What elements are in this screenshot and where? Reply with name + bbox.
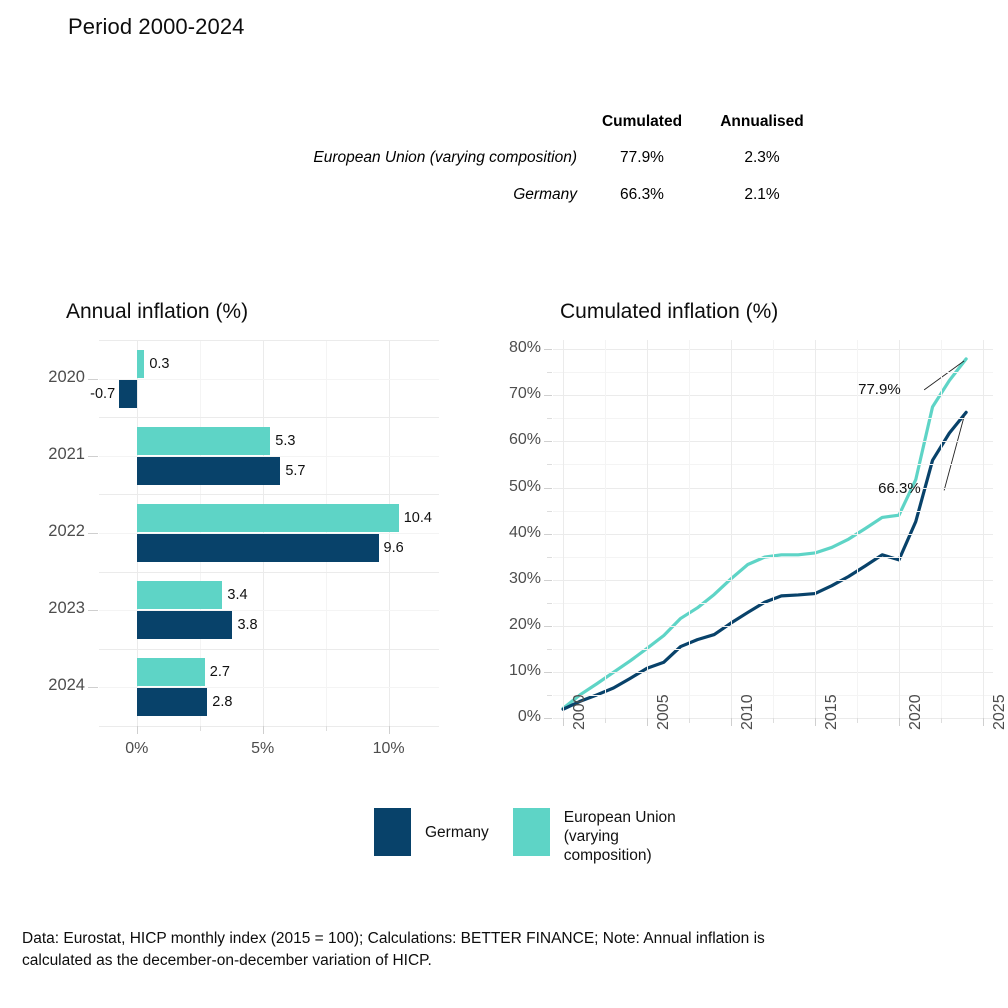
bar-value-label: 3.8 <box>237 611 257 639</box>
line-x-axis-tick-mark <box>647 718 648 726</box>
line-y-axis-tick-mark-minor <box>547 372 552 373</box>
bar-axis-tick-mark <box>88 379 98 380</box>
bar-germany-2023 <box>137 611 233 639</box>
line-x-axis-tick-2020: 2020 <box>907 694 925 730</box>
line-x-axis-tick-mark <box>983 718 984 726</box>
annotation-label-eu: 77.9% <box>858 381 901 398</box>
bar-axis-tick-mark <box>88 610 98 611</box>
line-y-axis-tick-mark-minor <box>547 418 552 419</box>
bar-x-axis-tick-10pct: 10% <box>359 740 419 758</box>
line-y-axis-tick-mark <box>544 626 552 627</box>
bar-eu-2022 <box>137 504 399 532</box>
line-x-axis-tick-mark-minor <box>689 718 690 723</box>
legend-swatch-european-union <box>513 808 550 856</box>
line-y-axis-tick-mark <box>544 580 552 581</box>
line-x-axis-tick-2015: 2015 <box>823 694 841 730</box>
bar-eu-2024 <box>137 658 205 686</box>
bar-gridline-horizontal <box>99 494 439 495</box>
line-y-axis-tick-mark-minor <box>547 649 552 650</box>
bar-eu-2021 <box>137 427 270 455</box>
line-gridline-minor-v <box>773 340 774 718</box>
bar-value-label: 10.4 <box>404 504 432 532</box>
bar-x-axis-tick-mark <box>389 726 390 734</box>
line-y-axis-tick-20pct: 20% <box>491 616 541 634</box>
annotation-leader-eu <box>924 361 964 390</box>
bar-axis-tick-2024: 2024 <box>5 676 85 695</box>
line-chart-title: Cumulated inflation (%) <box>560 300 778 324</box>
line-y-axis-tick-40pct: 40% <box>491 524 541 542</box>
line-gridline-major-v <box>731 340 732 718</box>
line-y-axis-tick-mark-minor <box>547 464 552 465</box>
bar-axis-tick-mark <box>88 533 98 534</box>
bar-value-label: 5.3 <box>275 427 295 455</box>
line-y-axis-tick-70pct: 70% <box>491 385 541 403</box>
bar-axis-tick-2023: 2023 <box>5 599 85 618</box>
table-cell-annualised: 2.1% <box>707 176 817 213</box>
bar-value-label: 2.7 <box>210 658 230 686</box>
bar-germany-2020 <box>119 380 137 408</box>
line-y-axis-tick-mark-minor <box>547 695 552 696</box>
bar-x-axis-tick-0pct: 0% <box>107 740 167 758</box>
bar-x-axis-tick-mark <box>263 726 264 734</box>
table-row: Germany 66.3% 2.1% <box>232 176 817 213</box>
table-header-annualised: Annualised <box>707 105 817 139</box>
line-gridline-major-v <box>815 340 816 718</box>
bar-gridline-horizontal-minor <box>99 379 439 380</box>
legend-label-european-union: European Union (varying composition) <box>564 808 699 865</box>
line-x-axis-tick-mark <box>815 718 816 726</box>
legend-item-european-union[interactable]: European Union (varying composition) <box>513 808 699 865</box>
bar-x-axis-tick-mark-minor <box>326 726 327 731</box>
bar-gridline-horizontal <box>99 572 439 573</box>
line-y-axis-tick-50pct: 50% <box>491 478 541 496</box>
legend-item-germany[interactable]: Germany <box>374 808 489 856</box>
line-y-axis-tick-mark <box>544 441 552 442</box>
bar-chart-title: Annual inflation (%) <box>66 300 248 324</box>
line-x-axis-tick-mark <box>731 718 732 726</box>
line-x-axis-tick-2010: 2010 <box>739 694 757 730</box>
chart-caption: Data: Eurostat, HICP monthly index (2015… <box>22 928 822 972</box>
line-x-axis-tick-mark-minor <box>941 718 942 723</box>
bar-chart-plot-area: 0.3-0.75.35.710.49.63.43.82.72.8 <box>99 340 439 726</box>
table-cell-entity: European Union (varying composition) <box>232 139 577 176</box>
line-y-axis-tick-mark-minor <box>547 557 552 558</box>
bar-germany-2022 <box>137 534 379 562</box>
table-cell-cumulated: 77.9% <box>577 139 707 176</box>
bar-axis-tick-2022: 2022 <box>5 522 85 541</box>
summary-table: Cumulated Annualised European Union (var… <box>232 105 817 213</box>
bar-eu-2020 <box>137 350 145 378</box>
bar-axis-tick-mark <box>88 456 98 457</box>
bar-gridline-horizontal <box>99 649 439 650</box>
legend-label-germany: Germany <box>425 823 489 842</box>
line-x-axis-tick-2000: 2000 <box>571 694 589 730</box>
bar-germany-2021 <box>137 457 281 485</box>
table-header-cumulated: Cumulated <box>577 105 707 139</box>
line-gridline-minor-v <box>689 340 690 718</box>
line-y-axis-tick-mark-minor <box>547 511 552 512</box>
line-y-axis-tick-mark <box>544 534 552 535</box>
bar-gridline-horizontal <box>99 417 439 418</box>
line-y-axis-tick-60pct: 60% <box>491 431 541 449</box>
line-y-axis-tick-mark <box>544 672 552 673</box>
page-title: Period 2000-2024 <box>68 14 245 40</box>
line-gridline-major-v <box>647 340 648 718</box>
line-y-axis-tick-80pct: 80% <box>491 339 541 357</box>
line-y-axis-tick-mark-minor <box>547 603 552 604</box>
line-chart-plot-area: 77.9%66.3% <box>553 340 993 718</box>
line-y-axis-tick-10pct: 10% <box>491 662 541 680</box>
bar-value-label: 5.7 <box>285 457 305 485</box>
bar-x-axis-tick-mark <box>137 726 138 734</box>
bar-x-axis-tick-5pct: 5% <box>233 740 293 758</box>
line-gridline-major-v <box>563 340 564 718</box>
bar-axis-tick-2021: 2021 <box>5 445 85 464</box>
table-row: European Union (varying composition) 77.… <box>232 139 817 176</box>
table-cell-annualised: 2.3% <box>707 139 817 176</box>
legend-swatch-germany <box>374 808 411 856</box>
bar-germany-2024 <box>137 688 208 716</box>
table-header-row: Cumulated Annualised <box>232 105 817 139</box>
line-x-axis-tick-mark <box>563 718 564 726</box>
table-cell-cumulated: 66.3% <box>577 176 707 213</box>
chart-legend: Germany European Union (varying composit… <box>374 808 699 865</box>
bar-axis-tick-mark <box>88 687 98 688</box>
line-y-axis-tick-mark <box>544 349 552 350</box>
line-x-axis-tick-2025: 2025 <box>991 694 1008 730</box>
line-x-axis-tick-mark-minor <box>857 718 858 723</box>
line-x-axis-tick-mark-minor <box>773 718 774 723</box>
line-x-axis-tick-mark <box>899 718 900 726</box>
bar-value-label: 2.8 <box>212 688 232 716</box>
table-cell-entity: Germany <box>232 176 577 213</box>
line-y-axis-tick-mark <box>544 488 552 489</box>
annotation-label-germany: 66.3% <box>878 480 921 497</box>
bar-eu-2023 <box>137 581 223 609</box>
line-gridline-major-v <box>983 340 984 718</box>
bar-value-label: 0.3 <box>149 350 169 378</box>
table-header-entity <box>232 105 577 139</box>
bar-x-axis-tick-mark-minor <box>200 726 201 731</box>
line-y-axis-tick-mark <box>544 395 552 396</box>
line-y-axis-tick-30pct: 30% <box>491 570 541 588</box>
bar-value-label: 3.4 <box>227 581 247 609</box>
bar-axis-tick-2020: 2020 <box>5 368 85 387</box>
bar-gridline-horizontal <box>99 340 439 341</box>
line-gridline-minor-v <box>605 340 606 718</box>
line-y-axis-tick-0pct: 0% <box>491 708 541 726</box>
bar-value-label: 9.6 <box>384 534 404 562</box>
line-y-axis-tick-mark <box>544 718 552 719</box>
line-x-axis-tick-2005: 2005 <box>655 694 673 730</box>
line-gridline-minor-v <box>941 340 942 718</box>
line-x-axis-tick-mark-minor <box>605 718 606 723</box>
